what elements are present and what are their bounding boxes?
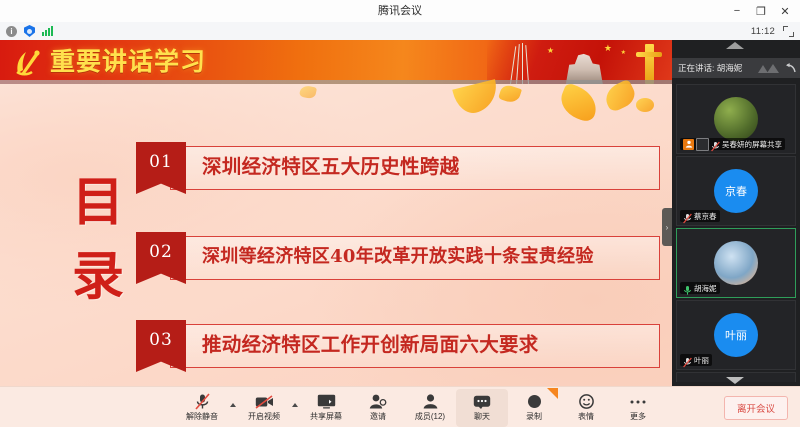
agenda-item-badge: 02 xyxy=(136,232,186,284)
toolbar-label: 共享屏幕 xyxy=(310,411,342,422)
participant-name: 胡海妮 xyxy=(694,283,717,294)
window-title: 腾讯会议 xyxy=(0,0,800,22)
avatar: 京春 xyxy=(714,169,758,213)
mic-muted-icon xyxy=(711,139,720,150)
participants-icon xyxy=(422,393,439,410)
catalog-char: 录 xyxy=(52,240,144,314)
toolbar-label: 更多 xyxy=(630,411,646,422)
slide-header-title: 重要讲话学习 xyxy=(50,48,206,76)
agenda-item: 01 深圳经济特区五大历史性跨越 xyxy=(136,146,656,188)
star-icon: ★ xyxy=(621,49,626,56)
agenda-item-badge: 01 xyxy=(136,142,186,194)
flag-poles xyxy=(508,42,552,84)
agenda-item: 03 推动经济特区工作开创新局面六大要求 xyxy=(136,324,656,366)
minimize-button[interactable]: − xyxy=(726,1,748,21)
emoji-icon xyxy=(579,393,594,410)
ribbon-decor xyxy=(299,84,317,99)
toolbar-buttons: 解除静音 开启视频 共享屏幕 邀请 xyxy=(176,387,664,427)
share-screen-icon xyxy=(317,393,336,410)
meeting-timer: 11:12 xyxy=(751,26,775,37)
shield-icon[interactable] xyxy=(24,25,35,37)
chat-bubble-icon xyxy=(473,393,491,410)
invite-button[interactable]: 邀请 xyxy=(352,389,404,427)
toolbar-label: 表情 xyxy=(578,411,594,422)
new-flag-icon xyxy=(547,388,558,399)
window-controls: − ❐ ✕ xyxy=(726,0,796,22)
agenda-item-number: 01 xyxy=(149,152,173,172)
participants-sidebar: 正在讲话: 胡海妮 › xyxy=(672,40,800,386)
record-icon xyxy=(528,393,541,410)
agenda-item-text: 深圳等经济特区40年改革开放实践十条宝贵经验 xyxy=(202,236,594,278)
mic-on-icon xyxy=(683,283,692,294)
tencent-meeting-window: 腾讯会议 − ❐ ✕ i 11:12 xyxy=(0,0,800,427)
start-video-button[interactable]: 开启视频 xyxy=(238,389,290,427)
participant-tile-list[interactable]: 吴春妍的屏幕共享 京春 蔡京春 胡海妮 xyxy=(672,82,800,382)
avatar xyxy=(714,241,758,285)
microphone-muted-icon xyxy=(195,393,210,410)
participant-tile[interactable]: 胡海妮 xyxy=(676,228,796,298)
ribbon-decor xyxy=(498,83,522,104)
participant-tile[interactable]: 京春 蔡京春 xyxy=(676,156,796,226)
star-icon: ★ xyxy=(604,43,612,54)
video-options-caret-icon[interactable] xyxy=(292,403,298,407)
toolbar-label: 解除静音 xyxy=(186,411,218,422)
meeting-toolbar: 解除静音 开启视频 共享屏幕 邀请 xyxy=(0,386,800,427)
agenda-item-number: 03 xyxy=(149,330,173,350)
status-left-icons: i xyxy=(6,22,53,40)
audio-options-caret-icon[interactable] xyxy=(230,403,236,407)
toolbar-label: 聊天 xyxy=(474,411,490,422)
avatar: 叶丽 xyxy=(714,313,758,357)
slide-header-band: 重要讲话学习 ★ ★ ★ xyxy=(0,40,672,84)
back-arrow-icon[interactable] xyxy=(785,63,796,73)
host-badge-icon xyxy=(683,139,694,150)
fullscreen-icon[interactable] xyxy=(783,26,794,37)
share-screen-button[interactable]: 共享屏幕 xyxy=(300,389,352,427)
ribbon-decor xyxy=(636,98,654,112)
participant-name-bar: 吴春妍的屏幕共享 xyxy=(680,138,785,150)
mic-muted-icon xyxy=(683,211,692,222)
toolbar-label: 成员(12) xyxy=(415,411,445,422)
participant-name-bar: 叶丽 xyxy=(680,354,712,366)
mic-muted-icon xyxy=(683,355,692,366)
active-speaker-label: 正在讲话: 胡海妮 xyxy=(678,62,742,74)
hammer-sickle-emblem xyxy=(12,48,42,76)
participant-name: 吴春妍的屏幕共享 xyxy=(722,139,782,150)
meeting-status-bar: i 11:12 xyxy=(0,22,800,41)
catalog-vertical-title: 目 录 xyxy=(52,166,144,314)
agenda-item: 02 深圳等经济特区40年改革开放实践十条宝贵经验 xyxy=(136,236,656,278)
more-button[interactable]: 更多 xyxy=(612,389,664,427)
avatar xyxy=(714,97,758,141)
unmute-button[interactable]: 解除静音 xyxy=(176,389,228,427)
emoji-button[interactable]: 表情 xyxy=(560,389,612,427)
toolbar-label: 邀请 xyxy=(370,411,386,422)
presentation-slide: 重要讲话学习 ★ ★ ★ xyxy=(0,40,672,386)
participant-tile[interactable]: 叶丽 叶丽 xyxy=(676,300,796,370)
agenda-item-text: 深圳经济特区五大历史性跨越 xyxy=(202,146,459,188)
participants-button[interactable]: 成员(12) xyxy=(404,389,456,427)
info-icon[interactable]: i xyxy=(6,26,17,37)
leave-meeting-button[interactable]: 离开会议 xyxy=(724,396,788,420)
participant-name-bar: 胡海妮 xyxy=(680,282,720,294)
status-right-icons: 11:12 xyxy=(751,22,794,40)
agenda-item-text: 推动经济特区工作开创新局面六大要求 xyxy=(202,324,539,366)
participant-name: 叶丽 xyxy=(694,355,709,366)
gold-bar-decor xyxy=(636,52,662,57)
collapse-sidebar-handle[interactable]: › xyxy=(662,208,672,246)
agenda-item-number: 02 xyxy=(149,242,173,262)
signal-icon[interactable] xyxy=(42,26,53,36)
toolbar-label: 开启视频 xyxy=(248,411,280,422)
toolbar-label: 录制 xyxy=(526,411,542,422)
participant-tile[interactable]: 吴春妍的屏幕共享 xyxy=(676,84,796,154)
ribbon-decor xyxy=(556,82,602,124)
invite-person-icon xyxy=(369,393,387,410)
slide-header-artwork: ★ ★ ★ xyxy=(487,40,672,84)
close-button[interactable]: ✕ xyxy=(774,1,796,21)
mountains-icon[interactable] xyxy=(758,63,780,73)
chat-button[interactable]: 聊天 xyxy=(456,389,508,427)
gold-pillar-decor xyxy=(645,44,654,84)
screen-share-badge-icon xyxy=(696,138,709,151)
scroll-up-icon[interactable] xyxy=(726,42,744,49)
catalog-char: 目 xyxy=(52,166,144,240)
title-bar: 腾讯会议 − ❐ ✕ xyxy=(0,0,800,23)
speaker-banner-actions xyxy=(758,58,796,78)
more-dots-icon xyxy=(629,393,647,410)
ribbon-decor xyxy=(452,79,501,117)
record-button[interactable]: 录制 xyxy=(508,389,560,427)
agenda-item-badge: 03 xyxy=(136,320,186,372)
shared-screen-stage[interactable]: 重要讲话学习 ★ ★ ★ xyxy=(0,40,672,386)
active-speaker-banner: 正在讲话: 胡海妮 xyxy=(672,58,800,78)
participant-name-bar: 蔡京春 xyxy=(680,210,720,222)
camera-off-icon xyxy=(255,393,274,410)
maximize-button[interactable]: ❐ xyxy=(750,1,772,21)
participant-name: 蔡京春 xyxy=(694,211,717,222)
scroll-down-icon[interactable] xyxy=(726,377,744,384)
